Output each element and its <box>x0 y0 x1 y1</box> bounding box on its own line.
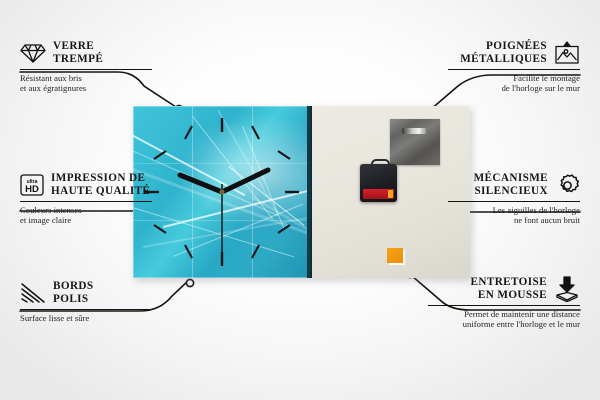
feature-title: VERRE TREMPÉ <box>53 40 103 66</box>
infographic-canvas: VERRE TREMPÉ Résistant aux bris et aux é… <box>0 0 600 400</box>
title-rule <box>428 305 580 306</box>
feature-desc: Les aiguilles de l'horloge ne font aucun… <box>448 205 580 226</box>
feature-entretoise-en-mousse: ENTRETOISE EN MOUSSE Permet de maintenir… <box>428 276 580 330</box>
picture-frame-icon <box>554 41 580 65</box>
title-rule <box>20 69 152 70</box>
tick-10 <box>154 151 166 159</box>
metal-hanger-plate <box>390 119 440 165</box>
clock-movement <box>360 164 397 202</box>
title-rule <box>448 201 580 202</box>
feature-title: BORDS POLIS <box>53 280 94 306</box>
feature-desc: Couleurs intenses et image claire <box>20 205 152 226</box>
tick-11 <box>185 126 192 139</box>
feature-poignees-metalliques: POIGNÉES MÉTALLIQUES Facilite le montage… <box>448 40 580 94</box>
feature-title: ENTRETOISE EN MOUSSE <box>471 276 547 302</box>
feature-desc: Surface lisse et sûre <box>20 313 152 323</box>
tick-5 <box>252 245 259 258</box>
feature-title: MÉCANISME SILENCIEUX <box>474 172 548 198</box>
hand-hour <box>180 175 222 192</box>
feature-mecanisme-silencieux: MÉCANISME SILENCIEUX Les aiguilles de l'… <box>448 172 580 226</box>
feature-impression-haute-qualite: ultra HD IMPRESSION DE HAUTE QUALITÉ Cou… <box>20 172 152 226</box>
product-image <box>133 106 470 278</box>
foam-spacer-icon <box>554 276 580 302</box>
feature-bords-polis: BORDS POLIS Surface lisse et sûre <box>20 280 152 323</box>
diamond-icon <box>20 42 46 64</box>
movement-hook <box>371 159 390 169</box>
title-rule <box>20 309 152 310</box>
title-rule <box>448 69 580 70</box>
ultra-hd-icon: ultra HD <box>20 174 44 196</box>
tick-4 <box>278 225 290 233</box>
title-rule <box>20 201 152 202</box>
hand-minute <box>222 170 268 192</box>
feature-desc: Résistant aux bris et aux égratignures <box>20 73 152 94</box>
battery-terminal <box>388 190 393 198</box>
feature-title: POIGNÉES MÉTALLIQUES <box>460 40 547 66</box>
hand-pivot <box>219 189 224 194</box>
tick-1 <box>252 126 259 139</box>
feature-desc: Facilite le montage de l'horloge sur le … <box>448 73 580 94</box>
feature-title: IMPRESSION DE HAUTE QUALITÉ <box>51 172 150 198</box>
clock-face <box>133 106 311 278</box>
tick-7 <box>185 245 192 258</box>
hanger-slot <box>402 128 426 134</box>
foam-spacer-pad <box>387 248 403 263</box>
tick-8 <box>154 225 166 233</box>
clock-back-panel <box>312 106 470 278</box>
tick-2 <box>278 151 290 159</box>
battery <box>363 189 394 199</box>
clock-hands-and-ticks <box>133 106 311 278</box>
polished-edges-icon <box>20 282 46 304</box>
ultra-hd-large-label: HD <box>25 184 39 195</box>
gear-icon <box>555 173 580 198</box>
feature-verre-trempe: VERRE TREMPÉ Résistant aux bris et aux é… <box>20 40 152 94</box>
feature-desc: Permet de maintenir une distance uniform… <box>428 309 580 330</box>
